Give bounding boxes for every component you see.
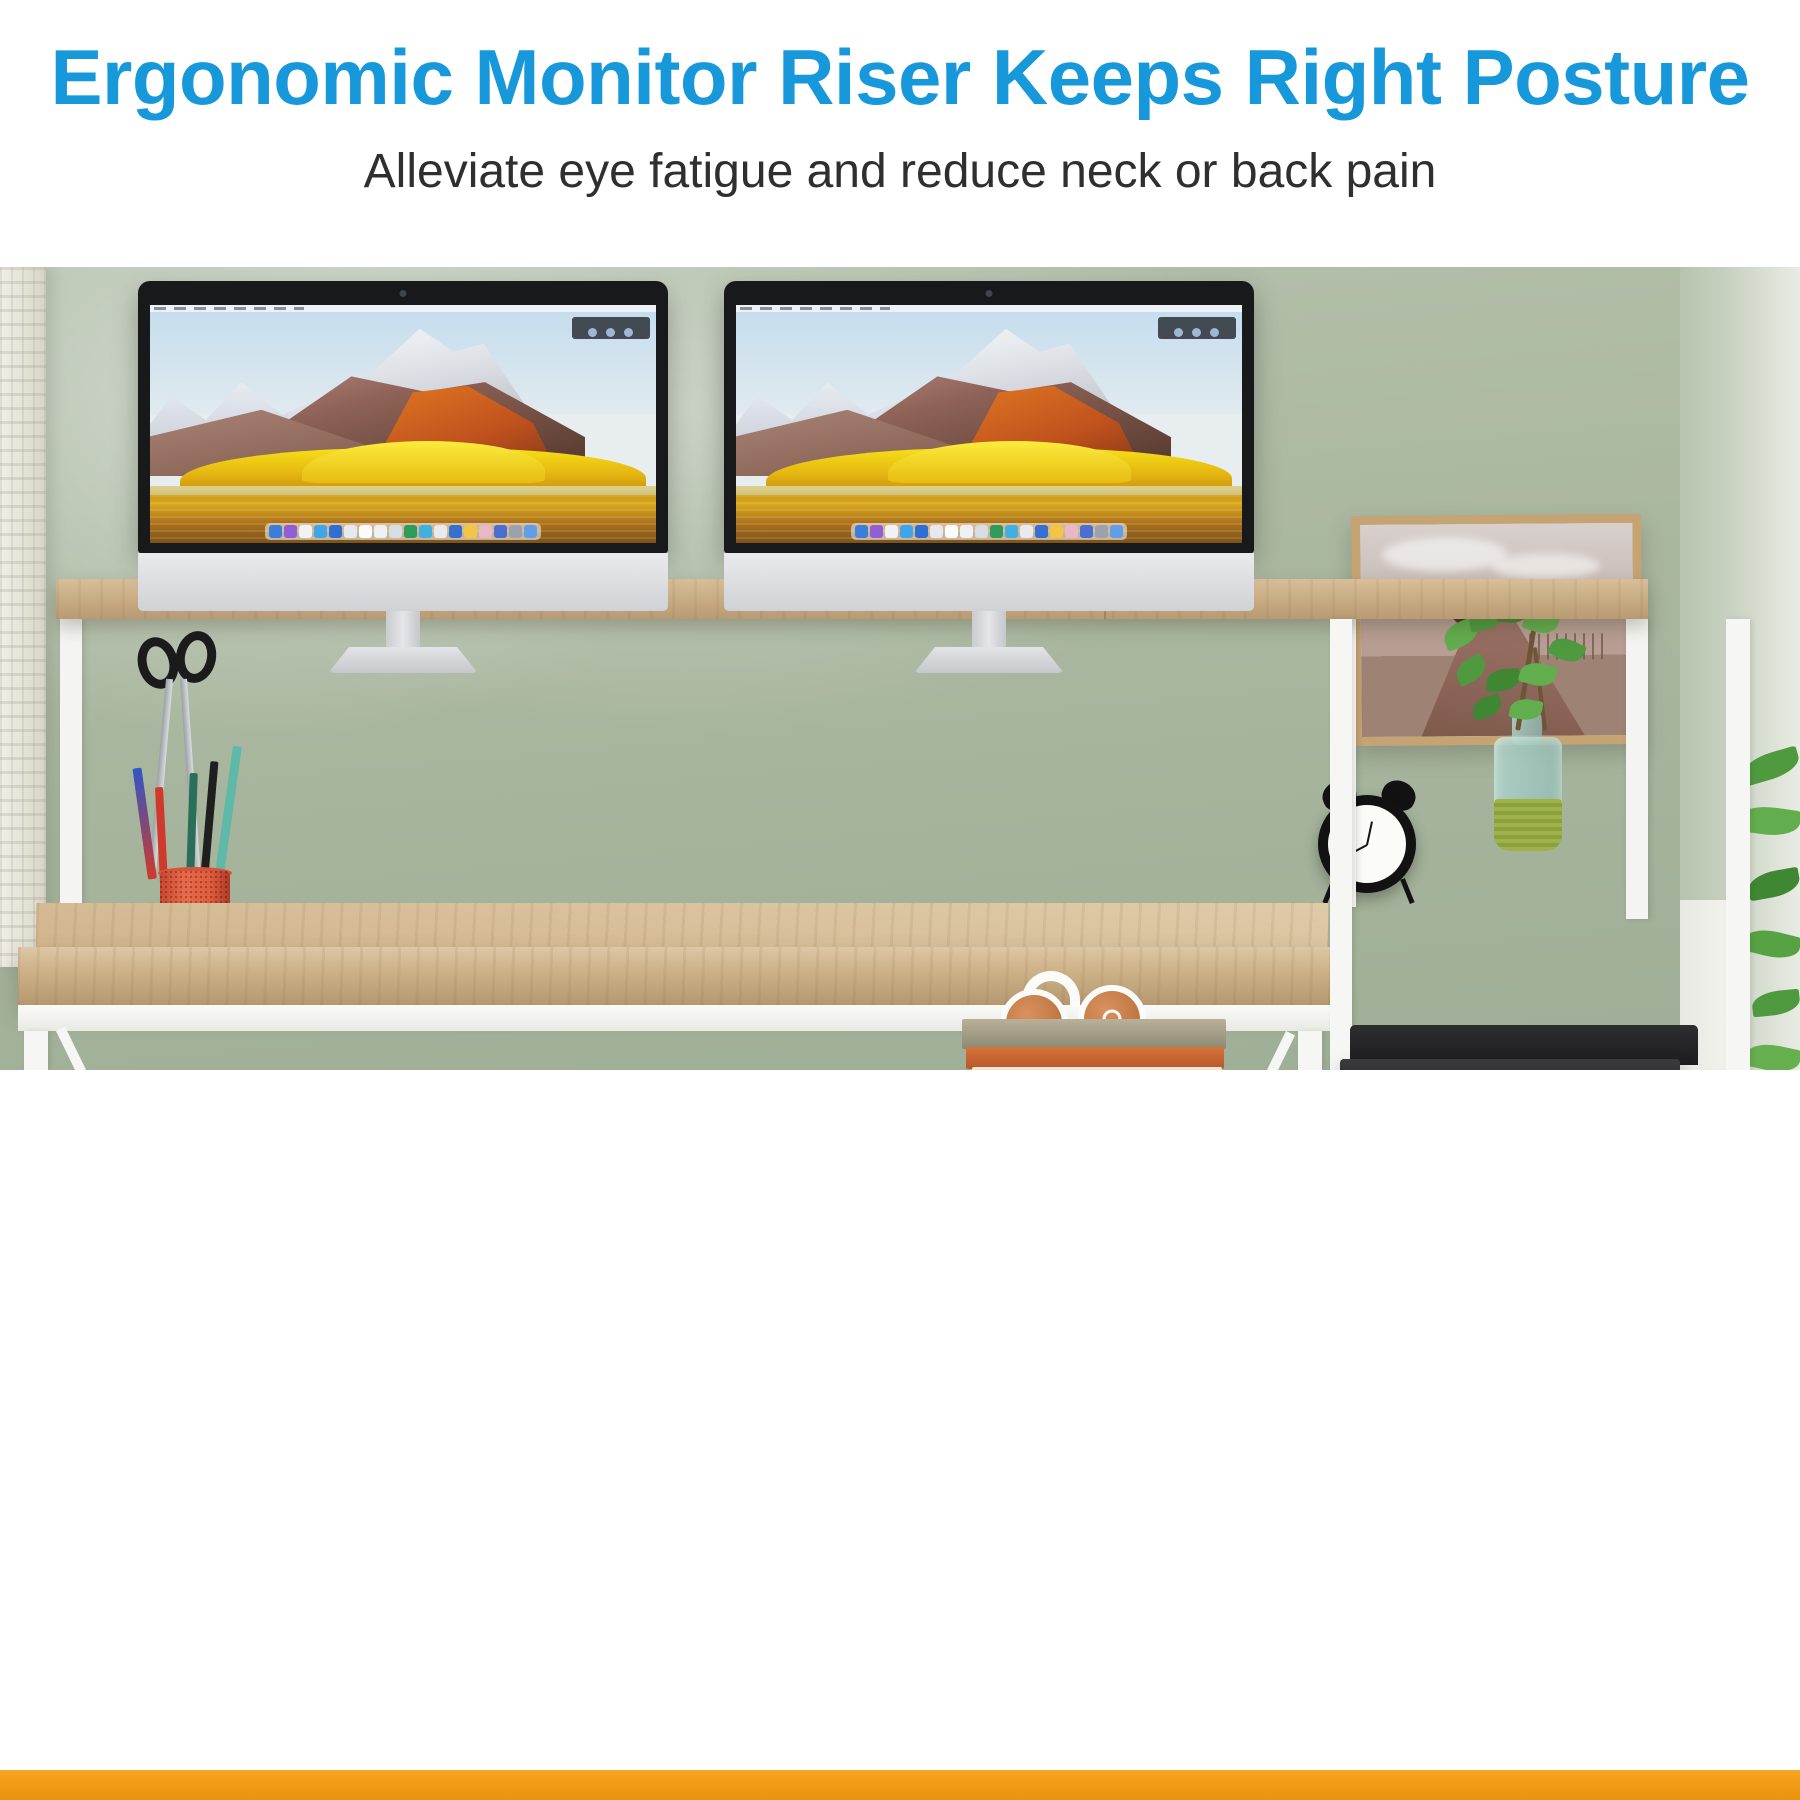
left-monitor	[138, 281, 668, 673]
vase-woven-wrap	[1494, 799, 1562, 851]
monitor-bezel	[724, 281, 1254, 553]
menu-bar[interactable]	[736, 305, 1242, 312]
monitor-chin	[724, 553, 1254, 611]
dock[interactable]	[851, 523, 1127, 540]
riser-leg	[1626, 619, 1648, 919]
right-monitor	[724, 281, 1254, 673]
dock[interactable]	[265, 523, 541, 540]
desktop-wallpaper	[150, 305, 656, 543]
infographic-page: Ergonomic Monitor Riser Keeps Right Post…	[0, 0, 1800, 1800]
bottom-accent-bar	[0, 1770, 1800, 1800]
monitor-screen	[150, 305, 656, 543]
curtain	[0, 267, 46, 967]
monitor-neck	[386, 611, 420, 653]
desk-leg	[1726, 619, 1750, 1070]
page-subtitle: Alleviate eye fatigue and reduce neck or…	[0, 148, 1800, 196]
header-section: Ergonomic Monitor Riser Keeps Right Post…	[0, 0, 1800, 267]
monitor-chin	[138, 553, 668, 611]
desk-leg	[1330, 619, 1352, 1070]
monitor-foot	[914, 647, 1064, 673]
desktop-widget[interactable]	[572, 317, 650, 339]
desktop-wallpaper	[736, 305, 1242, 543]
monitor-screen	[736, 305, 1242, 543]
monitor-bezel	[138, 281, 668, 553]
posture-comparison-illustration	[0, 1070, 1800, 1770]
riser-leg	[60, 619, 82, 919]
product-photo: THRIFT EPSON L355	[0, 267, 1800, 1070]
monitor-neck	[972, 611, 1006, 653]
art-cloud	[1382, 537, 1507, 572]
book	[966, 1047, 1224, 1069]
page-title: Ergonomic Monitor Riser Keeps Right Post…	[0, 38, 1800, 116]
desktop-widget[interactable]	[1158, 317, 1236, 339]
webcam-icon	[986, 290, 993, 297]
printer-body	[1340, 1059, 1680, 1070]
printer: EPSON L355	[1340, 1025, 1712, 1070]
desk-leg	[24, 1031, 48, 1070]
monitor-foot	[328, 647, 478, 673]
menu-bar[interactable]	[150, 305, 656, 312]
desk-leg	[1298, 1031, 1322, 1070]
webcam-icon	[400, 290, 407, 297]
book	[962, 1019, 1226, 1049]
